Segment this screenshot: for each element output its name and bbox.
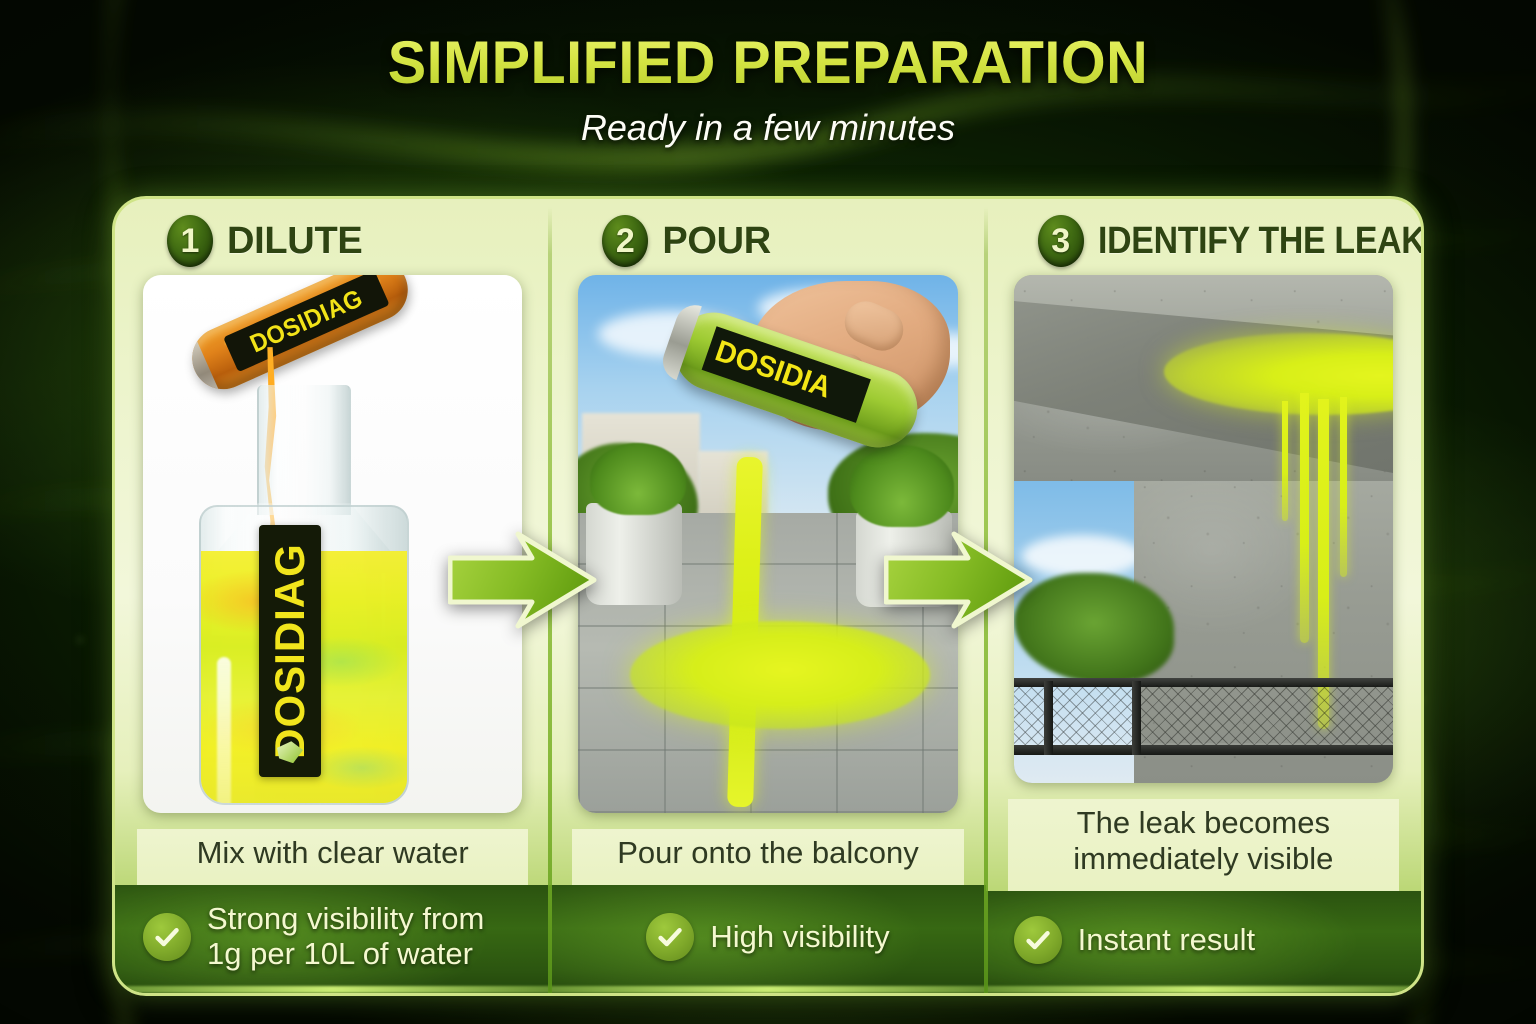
railing-post: [1044, 681, 1053, 755]
carafe-neck: [257, 385, 351, 515]
step-1-header: 1 DILUTE: [115, 199, 550, 275]
balcony-rail-bottom: [1014, 745, 1393, 755]
step-panel-identify: 3 IDENTIFY THE LEAK: [986, 199, 1421, 993]
potted-plant: [590, 443, 686, 515]
step-3-benefit: Instant result: [986, 891, 1421, 993]
step-1-caption: Mix with clear water: [137, 829, 528, 885]
arrow-step-2-to-3-icon: [884, 528, 1034, 632]
step-3-benefit-text: Instant result: [1078, 923, 1255, 958]
step-3-caption-line-1: The leak becomes: [1073, 805, 1333, 841]
dye-drip: [1340, 397, 1347, 577]
step-2-title: POUR: [662, 220, 771, 263]
planter-pot: [586, 503, 682, 605]
page-subtitle: Ready in a few minutes: [0, 107, 1536, 149]
step-3-caption-text: The leak becomes immediately visible: [1073, 805, 1333, 877]
step-1-benefit-line-2: 1g per 10L of water: [207, 937, 484, 972]
step-1-benefit-line-1: Strong visibility from: [207, 902, 484, 937]
bottle-brand-label: DOSIDIAG: [259, 525, 321, 777]
step-2-caption: Pour onto the balcony: [572, 829, 963, 885]
page-title: SIMPLIFIED PREPARATION: [31, 28, 1506, 97]
step-1-title: DILUTE: [227, 220, 362, 263]
step-3-image: [1014, 275, 1393, 783]
powder-tube: DOSIDIAG: [182, 275, 417, 399]
check-icon: [143, 913, 191, 961]
check-icon: [1014, 916, 1062, 964]
step-1-number-badge: 1: [167, 215, 213, 267]
step-2-benefit-text: High visibility: [710, 920, 889, 955]
step-1-benefit: Strong visibility from 1g per 10L of wat…: [115, 885, 550, 993]
dye-drip: [1300, 393, 1309, 643]
infographic-root: SIMPLIFIED PREPARATION Ready in a few mi…: [0, 0, 1536, 1024]
cloud: [1022, 535, 1142, 577]
step-3-number-badge: 3: [1038, 215, 1084, 267]
step-2-header: 2 POUR: [550, 199, 985, 275]
railing-post: [1132, 681, 1141, 755]
step-2-benefit: High visibility: [550, 885, 985, 993]
check-icon: [646, 913, 694, 961]
step-2-caption-text: Pour onto the balcony: [617, 835, 919, 871]
steps-card: 1 DILUTE DOSIDIAG: [112, 196, 1424, 996]
step-3-caption: The leak becomes immediately visible: [1008, 799, 1399, 891]
step-2-number-badge: 2: [602, 215, 648, 267]
header: SIMPLIFIED PREPARATION Ready in a few mi…: [0, 28, 1536, 149]
potted-plant: [850, 445, 954, 527]
step-3-caption-line-2: immediately visible: [1073, 841, 1333, 877]
dye-drip: [1282, 401, 1288, 521]
step-1-caption-text: Mix with clear water: [197, 835, 469, 871]
arrow-step-1-to-2-icon: [448, 528, 598, 632]
glass-highlight: [217, 657, 231, 805]
step-3-header: 3 IDENTIFY THE LEAK: [986, 199, 1421, 275]
step-3-title: IDENTIFY THE LEAK: [1098, 220, 1424, 263]
dye-puddle: [630, 621, 930, 729]
water-carafe: DOSIDIAG: [199, 385, 409, 805]
railing-mesh: [1014, 685, 1393, 747]
step-1-benefit-text: Strong visibility from 1g per 10L of wat…: [207, 902, 484, 971]
bottle-brand-text: DOSIDIAG: [266, 543, 314, 759]
